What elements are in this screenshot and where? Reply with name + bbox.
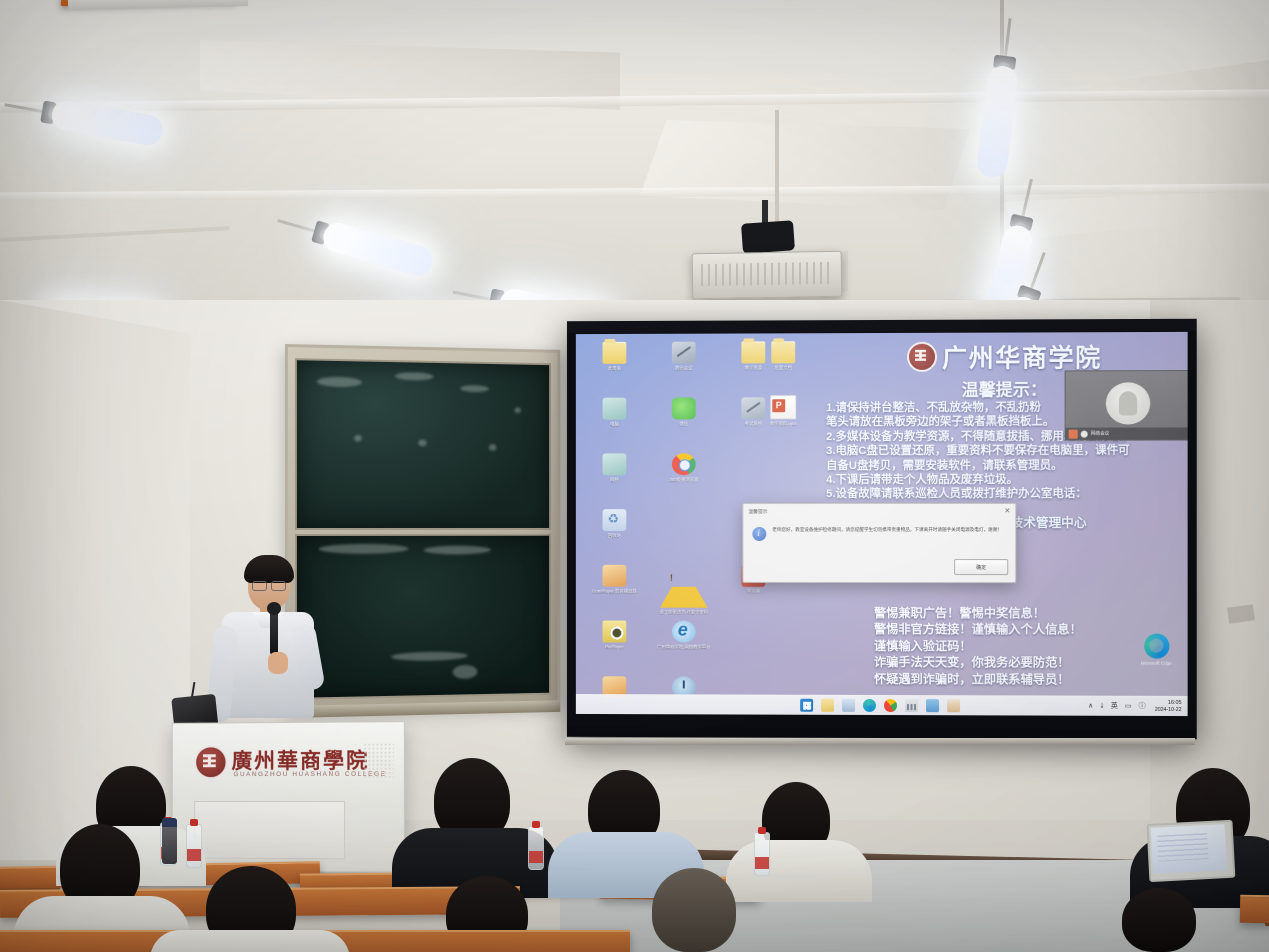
info-icon [752,527,766,541]
user-icon [1081,430,1088,437]
desktop-icon-edge[interactable]: Microsoft Edge [1131,633,1181,666]
fraud-line: 怀疑遇到诈骗时，立即联系辅导员！ [874,671,1175,688]
windows-taskbar[interactable]: ∧ ⭣ 英 ▭ ⓘ 16:05 2024-10-22 [576,694,1188,716]
taskbar-center-group[interactable] [800,699,960,713]
meeting-window[interactable]: 网络会议 [1065,370,1188,441]
media-player-icon [603,565,627,587]
desktop-icon-spacer4 [721,619,787,673]
close-icon[interactable]: ✕ [1002,507,1012,514]
huashang-crest-icon [907,342,937,372]
taskbar-clock[interactable]: 16:05 2024-10-22 [1153,699,1182,713]
folder-icon [603,342,627,364]
desktop-icon-16[interactable]: 批量文档 [750,339,816,370]
show-hidden-icons-icon[interactable]: ∧ [1088,702,1093,710]
lecturer-hair [244,555,294,583]
desktop-icon-6[interactable]: 网络 [582,451,647,505]
windows-desktop[interactable]: 此电脑 腾讯会议 教学资源 电脑 微信 [576,332,1188,716]
icon-label: 广州华商学院 网络教学平台 [653,645,715,650]
laptop[interactable] [1146,820,1231,884]
picture-icon[interactable] [926,699,939,712]
internet-explorer-icon [672,621,696,643]
meeting-app-icon [1069,429,1078,438]
microphone-head [267,602,281,615]
chrome-icon [672,453,696,475]
icon-label: 电脑 [584,421,645,426]
icon-label: 批量文档 [752,365,814,370]
icon-label: PotPlayer [584,644,645,649]
desktop-icon-1[interactable]: 腾讯会议 [651,340,716,394]
desktop-icon-7[interactable]: 360极速浏览器 [651,451,716,505]
icon-label: 网络 [584,477,645,482]
ceiling-projector [692,251,843,300]
podium-panel [194,801,345,859]
water-bottle [754,832,770,876]
audience-shoulders [150,930,350,952]
tencent-meeting-icon [672,342,696,364]
desktop-icon-3[interactable]: 电脑 [582,396,647,450]
folder-icon[interactable] [821,699,834,712]
lectern: 廣州華商學院 GUANGZHOU HUASHANG COLLEGE [172,721,405,873]
icon-label: 回收站 [584,533,645,538]
audience-head [652,868,736,952]
tip-line: 4.下课后请带走个人物品及废弃垃圾。 [826,473,1184,488]
computer-icon [603,398,627,420]
system-tray[interactable]: ∧ ⭣ 英 ▭ ⓘ 16:05 2024-10-22 [1088,699,1181,713]
dialog-buttons: 确定 [954,559,1008,575]
fraud-line: 警惕兼职广告！警惕中奖信息！ [874,605,1175,622]
desktop-icon-13[interactable]: 广州华商学院 网络教学平台 [651,619,716,673]
microphone-icon[interactable]: ⭣ [1100,702,1103,710]
recycle-bin-icon [603,509,627,531]
windows-start-icon[interactable] [800,699,813,712]
camera-icon[interactable] [947,699,960,712]
screen-bezel [567,319,1197,333]
huashang-crest-icon [194,745,227,779]
icon-label: 请立即更改为 IT安全密码 [653,610,715,615]
microphone-icon [270,608,278,656]
mail-icon[interactable] [842,699,855,712]
desktop-icon-9[interactable]: GomPlayer 影音播放器 [582,563,647,617]
desktop-icon-8[interactable]: 回收站 [582,507,647,561]
laptop-screen [1151,824,1227,874]
dialog-title: 温馨提示 [748,508,767,515]
desktop-icon-10[interactable]: 请立即更改为 IT安全密码 [651,563,716,617]
icon-label: 微信 [653,421,715,426]
volume-icon[interactable]: ⓘ [1139,702,1146,710]
dialog-body: 老师您好，教室设备维护检修期间，请您提醒学生切勿携带贵重物品，下课离开时请随手关… [743,518,1015,541]
desktop-icon-4[interactable]: 微信 [651,395,716,449]
screen-support-bar [565,738,1195,745]
chrome-icon[interactable] [884,699,897,712]
thermos-bottle [162,818,177,864]
audience-head [1122,888,1196,952]
icon-label: Microsoft Edge [1131,661,1181,667]
potplayer-icon [603,621,627,643]
audience-shoulders [726,840,872,902]
lecturer [208,560,326,740]
powerpoint-icon [770,395,796,419]
dialog-message: 老师您好，教室设备维护检修期间，请您提醒学生切勿携带贵重物品，下课离开时请随手关… [772,527,1002,541]
student-desk [1240,895,1269,926]
tip-line: 5.设备故障请联系巡检人员或拨打维护办公室电话： [826,487,1184,502]
icon-label: 360极速浏览器 [653,477,715,482]
blackboard-panel-lower [295,534,551,700]
clock-date: 2024-10-22 [1155,706,1182,713]
water-bottle [528,826,544,870]
projection-screen: 此电脑 腾讯会议 教学资源 电脑 微信 [567,319,1197,739]
speaker-grille [363,742,393,778]
meeting-status-bar: 网络会议 [1066,427,1188,439]
icon-label: GomPlayer 影音播放器 [584,589,645,594]
wechat-icon [672,397,696,419]
icon-label: 学习通 [723,589,785,594]
network-icon [603,453,627,475]
edge-icon [1144,634,1169,659]
tip-line: 自备U盘拷贝，需要安装软件，请联系管理员。 [826,458,1184,473]
warning-icon [660,565,708,608]
icon-label: 腾讯会议 [653,366,715,371]
water-bottle [186,824,202,868]
left-wall [0,300,190,860]
ime-indicator-icon[interactable]: 英 [1111,702,1118,710]
desktop-icon-0[interactable]: 此电脑 [582,340,647,394]
notice-dialog[interactable]: 温馨提示 ✕ 老师您好，教室设备维护检修期间，请您提醒学生切勿携带贵重物品，下课… [742,503,1016,583]
blackboard [285,344,560,710]
dialog-titlebar: 温馨提示 ✕ [743,504,1015,518]
default-avatar-icon [1106,382,1150,424]
icon-label: 此电脑 [584,366,645,371]
lecturer-hand [268,652,288,674]
chart-icon[interactable] [905,699,918,712]
projector-mount [741,220,795,254]
participant-name: 网络会议 [1091,431,1110,437]
school-name: 广州华商学院 [942,338,1102,375]
desktop-icon-12[interactable]: PotPlayer [582,619,647,673]
network-icon[interactable]: ▭ [1125,702,1132,710]
folder-icon [771,341,795,363]
ok-button[interactable]: 确定 [954,559,1008,575]
classroom-photo: 此电脑 腾讯会议 教学资源 电脑 微信 [0,0,1269,952]
projected-desktop[interactable]: 此电脑 腾讯会议 教学资源 电脑 微信 [576,332,1188,716]
tip-line: 3.电脑C盘已设置还原，重要资料不要保存在电脑里，课件可 [826,444,1184,459]
edge-icon[interactable] [863,699,876,712]
ceiling-pipe [775,110,779,230]
glasses-icon [252,581,286,589]
desktop-icon-spacer [721,451,787,505]
desktop-icon-17[interactable]: 教学资料.pptx [750,393,816,426]
desktop-icon-spacer2 [651,507,716,561]
blackboard-panel-upper [295,358,551,530]
icon-label: 教学资料.pptx [752,421,814,426]
